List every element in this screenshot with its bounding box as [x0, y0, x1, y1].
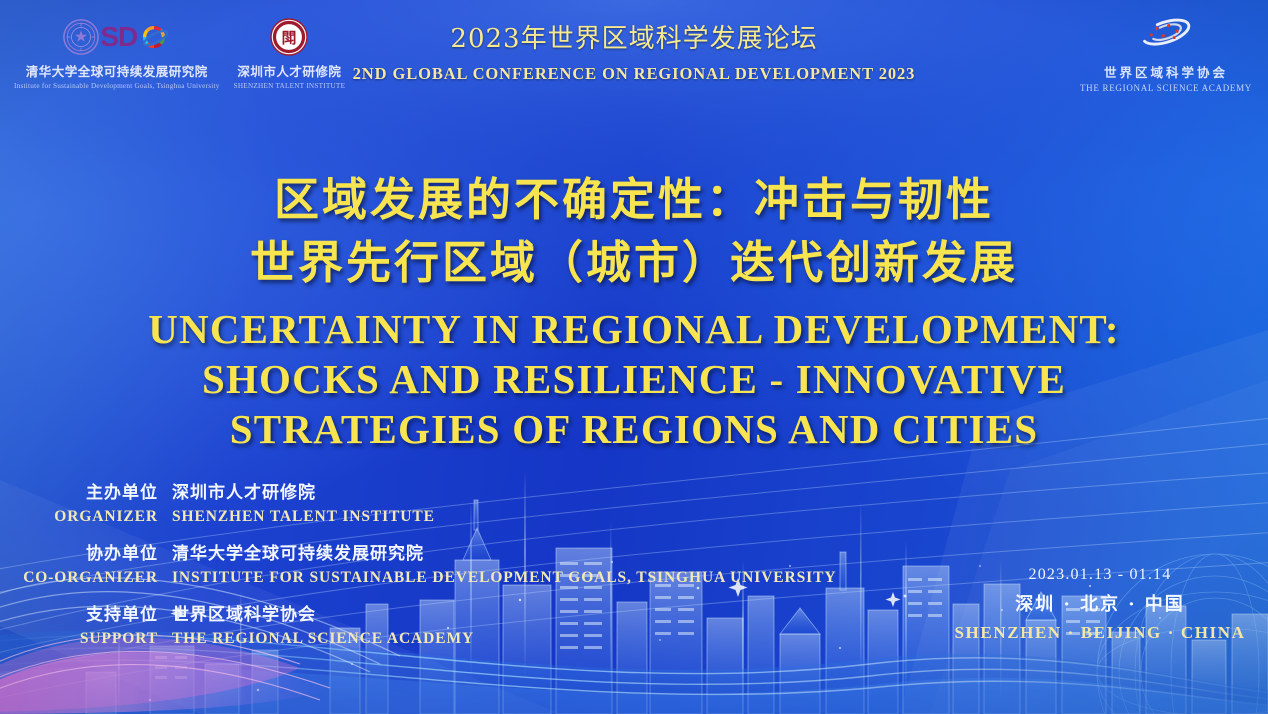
co-organizer-label-cn: 协办单位: [0, 539, 172, 564]
partner-logos-left: SD: [14, 16, 345, 90]
event-place-en: SHENZHEN · BEIJING · CHINA: [950, 623, 1250, 643]
organizer-value-cn: 深圳市人才研修院: [172, 478, 316, 503]
organizer-value-en: SHENZHEN TALENT INSTITUTE: [172, 508, 435, 526]
sdg-wordmark: SD: [100, 23, 137, 51]
support-value-en: THE REGIONAL SCIENCE ACADEMY: [172, 630, 474, 648]
support-value-cn: 世界区域科学协会: [172, 600, 316, 625]
organizer-label-cn: 主办单位: [0, 478, 172, 503]
title-cn-line2: 世界先行区域（城市）迭代创新发展: [0, 231, 1268, 294]
logo-shenzhen-talent: 閗 深圳市人才研修院 SHENZHEN TALENT INSTITUTE: [234, 16, 346, 90]
organizer-list: 主办单位 深圳市人才研修院 ORGANIZER SHENZHEN TALENT …: [0, 478, 880, 661]
organizer-row-en: ORGANIZER SHENZHEN TALENT INSTITUTE: [0, 508, 880, 526]
title-en-line1: UNCERTAINTY IN REGIONAL DEVELOPMENT:: [0, 304, 1268, 354]
organizer-group-organizer: 主办单位 深圳市人才研修院 ORGANIZER SHENZHEN TALENT …: [0, 478, 880, 526]
title-cn-line1: 区域发展的不确定性：冲击与韧性: [0, 168, 1268, 231]
support-label-cn: 支持单位: [0, 600, 172, 625]
support-label-en: SUPPORT: [0, 630, 172, 648]
tsinghua-name-en: Institute for Sustainable Development Go…: [14, 82, 220, 90]
sdg-color-wheel-icon: [137, 20, 171, 54]
organizer-group-support: 支持单位 世界区域科学协会 SUPPORT THE REGIONAL SCIEN…: [0, 600, 880, 648]
shenzhen-talent-name-cn: 深圳市人才研修院: [237, 61, 341, 80]
shenzhen-talent-seal-icon: 閗: [269, 17, 309, 57]
organizer-row-cn: 主办单位 深圳市人才研修院: [0, 478, 880, 503]
support-row-en: SUPPORT THE REGIONAL SCIENCE ACADEMY: [0, 630, 880, 648]
event-date-location: 2023.01.13 - 01.14 深圳 · 北京 · 中国 SHENZHEN…: [950, 566, 1250, 643]
tsinghua-name-cn: 清华大学全球可持续发展研究院: [26, 61, 208, 80]
co-organizer-label-en: CO-ORGANIZER: [0, 569, 172, 587]
organizer-label-en: ORGANIZER: [0, 508, 172, 526]
header-title-en: 2ND GLOBAL CONFERENCE ON REGIONAL DEVELO…: [353, 64, 916, 84]
conference-banner: SD: [0, 0, 1268, 714]
tsinghua-sdg-marks: SD: [62, 16, 171, 58]
shenzhen-talent-name-en: SHENZHEN TALENT INSTITUTE: [234, 82, 346, 90]
svg-text:閗: 閗: [282, 29, 297, 47]
support-row-cn: 支持单位 世界区域科学协会: [0, 600, 880, 625]
shenzhen-talent-mark: 閗: [269, 16, 309, 58]
logo-regional-science-academy: 世界区域科学协会 THE REGIONAL SCIENCE ACADEMY: [1080, 12, 1252, 93]
co-organizer-value-en: INSTITUTE FOR SUSTAINABLE DEVELOPMENT GO…: [172, 569, 836, 587]
event-date: 2023.01.13 - 01.14: [950, 566, 1250, 584]
organizer-group-co-organizer: 协办单位 清华大学全球可持续发展研究院 CO-ORGANIZER INSTITU…: [0, 539, 880, 587]
main-title-block: 区域发展的不确定性：冲击与韧性 世界先行区域（城市）迭代创新发展 UNCERTA…: [0, 168, 1268, 454]
event-place-cn: 深圳 · 北京 · 中国: [950, 590, 1250, 616]
co-organizer-row-cn: 协办单位 清华大学全球可持续发展研究院: [0, 539, 880, 564]
rsa-name-en: THE REGIONAL SCIENCE ACADEMY: [1080, 83, 1252, 93]
co-organizer-value-cn: 清华大学全球可持续发展研究院: [172, 539, 424, 564]
title-en-line2: SHOCKS AND RESILIENCE - INNOVATIVE: [0, 354, 1268, 404]
banner-header: SD: [0, 0, 1268, 104]
rsa-name-cn: 世界区域科学协会: [1080, 62, 1252, 81]
galaxy-swirl-icon: [1134, 12, 1198, 54]
header-title-cn: 2023年世界区域科学发展论坛: [353, 18, 916, 55]
logo-tsinghua-sdg: SD: [14, 16, 220, 90]
co-organizer-row-en: CO-ORGANIZER INSTITUTE FOR SUSTAINABLE D…: [0, 569, 880, 587]
title-en-line3: STRATEGIES OF REGIONS AND CITIES: [0, 404, 1268, 454]
tsinghua-seal-icon: [62, 18, 100, 56]
header-titles: 2023年世界区域科学发展论坛 2ND GLOBAL CONFERENCE ON…: [353, 18, 916, 84]
